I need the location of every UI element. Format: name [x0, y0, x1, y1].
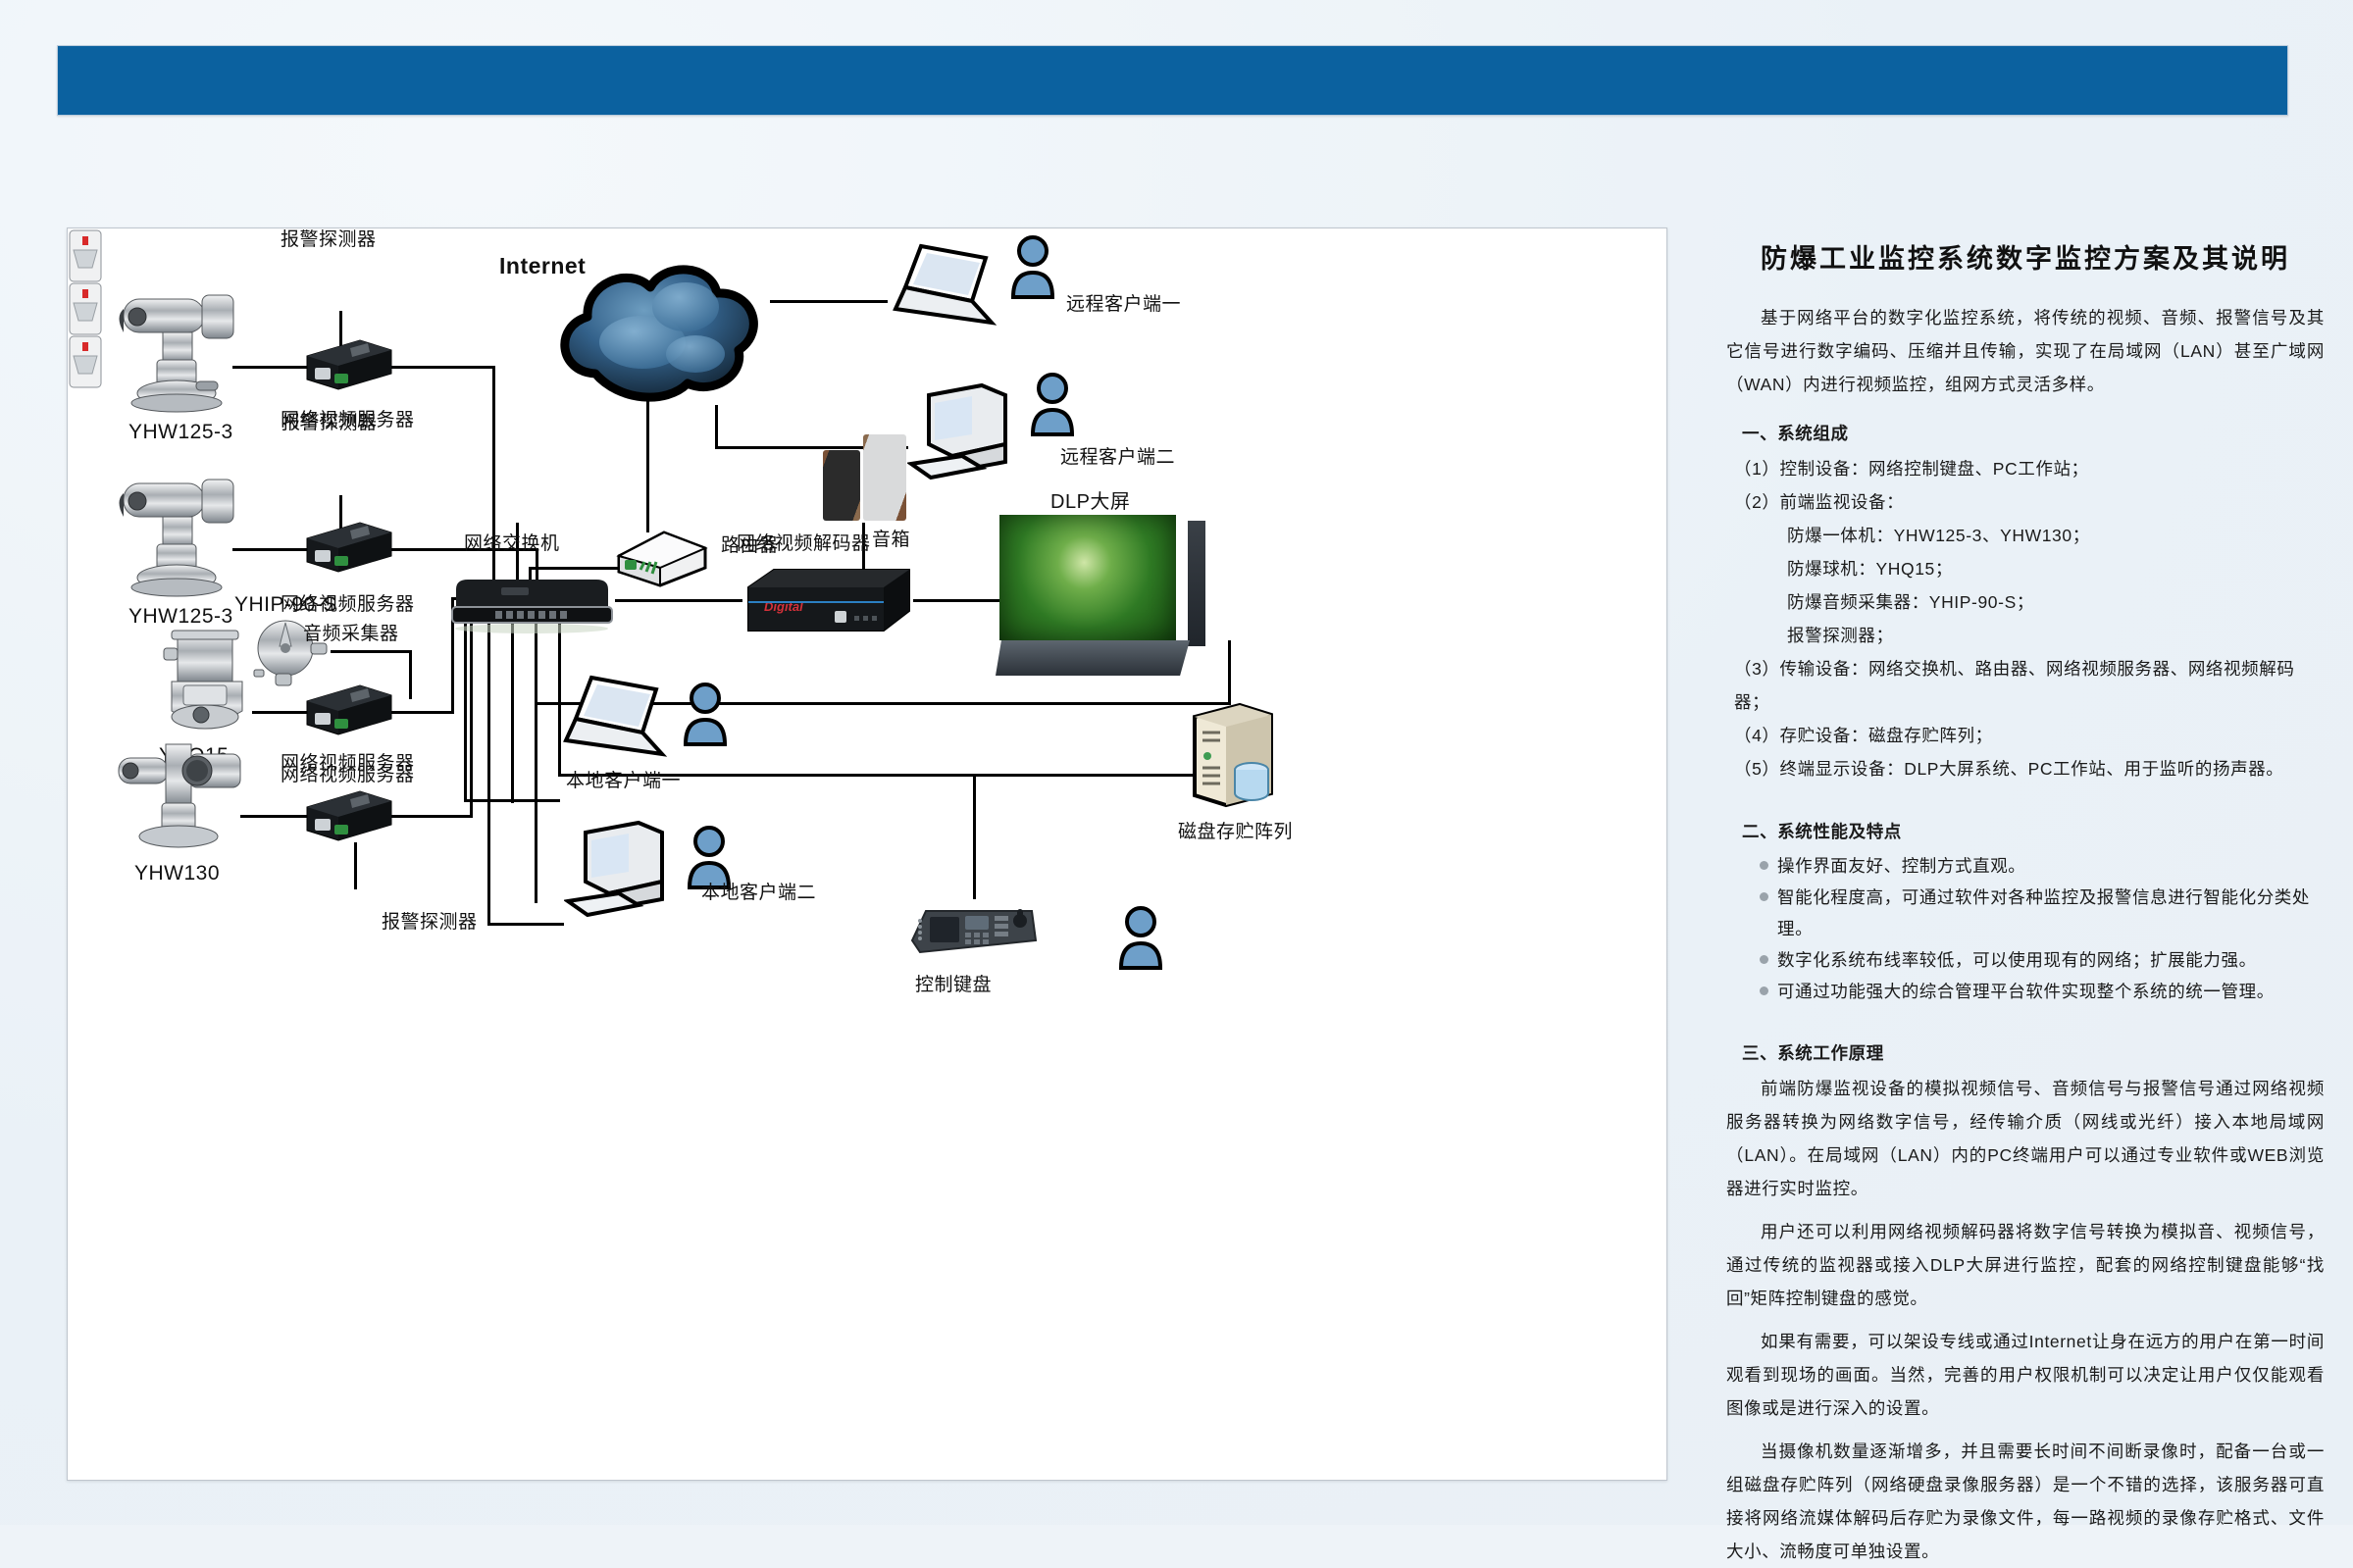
- remote-client-1-laptop-icon: [888, 240, 1001, 339]
- dlp-screen: [999, 515, 1176, 640]
- section-1-item-1: （1）控制设备：网络控制键盘、PC工作站；: [1734, 452, 2325, 485]
- router-icon: [609, 523, 713, 596]
- section-1-subitem-2: 防爆球机：YHQ15；: [1787, 552, 2325, 585]
- camera-yhw125-3-mid-icon: [112, 472, 239, 601]
- section-1-item-3: （3）传输设备：网络交换机、路由器、网络视频服务器、网络视频解码器；: [1734, 652, 2325, 719]
- alarm-detector-3-icon: [68, 334, 101, 387]
- network-video-server-2-icon: [299, 517, 397, 578]
- network-video-server-1-label: 网络视频服务器: [281, 405, 415, 431]
- local-client-1-user-avatar: [680, 682, 731, 753]
- network-video-server-2-label: 网络视频服务器: [281, 589, 415, 616]
- bus-2: [487, 619, 490, 925]
- audio-collector-label: 音频采集器: [303, 619, 399, 645]
- link-nvs1-trunk: [391, 366, 495, 369]
- section-1-subitem-3: 防爆音频采集器：YHIP-90-S；: [1787, 585, 2325, 619]
- network-video-server-1-icon: [299, 334, 397, 395]
- speakers-icon: [823, 434, 906, 521]
- remote-client-2-desktop-icon: [907, 378, 1025, 488]
- disk-storage-array-icon: [1181, 699, 1283, 816]
- section-1-item-4: （4）存贮设备：磁盘存贮阵列；: [1734, 719, 2325, 752]
- top-banner: [57, 45, 2288, 116]
- alarm-detector-2-icon: [68, 281, 101, 334]
- dlp-side-panel: [1188, 521, 1205, 646]
- disk-array-user-avatar: [1115, 905, 1166, 977]
- internet-label: Internet: [499, 253, 586, 279]
- camera-yhw130-icon: [113, 738, 246, 856]
- speaker-label: 音箱: [872, 525, 910, 551]
- network-video-server-4-label: 网络视频服务器: [281, 760, 415, 786]
- speaker-right: [863, 434, 906, 521]
- link-decoder-dlp: [913, 599, 1009, 602]
- alarm-detector-1-icon: [68, 228, 101, 281]
- section-2-bullet-3: 数字化系统布线率较低，可以使用现有的网络；扩展能力强。: [1760, 944, 2325, 976]
- section-2-bullet-1: 操作界面友好、控制方式直观。: [1760, 850, 2325, 882]
- camera-yhw125-3-top-icon: [112, 287, 239, 417]
- network-switch-label: 网络交换机: [464, 529, 560, 555]
- local-client-2-label: 本地客户端二: [701, 878, 816, 904]
- bullet-dot-icon: [1760, 986, 1768, 995]
- section-2-bullet-1-text: 操作界面友好、控制方式直观。: [1777, 850, 2325, 882]
- section-3-heading: 三、系统工作原理: [1742, 1037, 2325, 1070]
- speaker-left: [823, 450, 860, 521]
- link-audio-nvs3: [409, 652, 412, 699]
- link-switch-decoder: [615, 599, 742, 602]
- document-title: 防爆工业监控系统数字监控方案及其说明: [1726, 237, 2325, 276]
- bus-4: [535, 619, 537, 903]
- dlp-video-wall-icon: [999, 515, 1190, 676]
- internet-cloud-icon: [548, 256, 774, 423]
- bus-ckb-v: [973, 774, 976, 899]
- link-det3-nvs4: [354, 842, 357, 889]
- remote-client-2-user-avatar: [1027, 372, 1078, 443]
- link-router-switch: [529, 567, 621, 570]
- link-nvs3-trunk: [391, 711, 454, 714]
- section-2-bullet-3-text: 数字化系统布线率较低，可以使用现有的网络；扩展能力强。: [1777, 944, 2325, 976]
- bus-3: [511, 619, 514, 803]
- section-1-heading: 一、系统组成: [1742, 417, 2325, 450]
- network-switch-icon: [446, 574, 618, 639]
- dome-camera-yhq15-icon: [158, 629, 256, 749]
- camera-yhw125-3-mid-label: YHW125-3: [128, 605, 233, 629]
- bullet-dot-icon: [1760, 892, 1768, 901]
- bus-disk-v: [1228, 640, 1231, 704]
- network-video-decoder-icon: Digital: [741, 562, 915, 643]
- remote-client-1-label: 远程客户端一: [1066, 289, 1181, 316]
- section-3-paragraph-1: 前端防爆监视设备的模拟视频信号、音频信号与报警信号通过网络视频服务器转换为网络数…: [1726, 1072, 2325, 1205]
- bullet-dot-icon: [1760, 955, 1768, 964]
- link-nvs1-down: [492, 366, 495, 597]
- section-3-paragraph-2: 用户还可以利用网络视频解码器将数字信号转换为模拟音、视频信号，通过传统的监视器或…: [1726, 1215, 2325, 1315]
- camera-yhw125-3-top-label: YHW125-3: [128, 421, 233, 444]
- network-video-server-3-icon: [299, 680, 397, 740]
- network-video-server-4-icon: [299, 785, 397, 846]
- document-text-column: 防爆工业监控系统数字监控方案及其说明 基于网络平台的数字化监控系统，将传统的视频…: [1726, 228, 2325, 1492]
- alarm-detector-1-label: 报警探测器: [281, 228, 377, 251]
- remote-client-2-label: 远程客户端二: [1060, 442, 1175, 469]
- camera-yhw130-label: YHW130: [134, 862, 220, 885]
- section-2-heading: 二、系统性能及特点: [1742, 815, 2325, 848]
- dlp-base: [996, 640, 1190, 676]
- section-2-bullet-2-text: 智能化程度高，可通过软件对各种监控及报警信息进行智能化分类处理。: [1777, 882, 2325, 944]
- network-topology-diagram: Internet YHW125-3: [67, 228, 1667, 1481]
- disk-storage-array-label: 磁盘存贮阵列: [1178, 817, 1293, 843]
- control-keyboard-label: 控制键盘: [915, 970, 992, 996]
- intro-paragraph: 基于网络平台的数字化监控系统，将传统的视频、音频、报警信号及其它信号进行数字编码…: [1726, 301, 2325, 401]
- local-client-1-laptop-icon: [558, 672, 672, 771]
- section-1-subitem-1: 防爆一体机：YHW125-3、YHW130；: [1787, 519, 2325, 552]
- section-3-paragraph-4: 当摄像机数量逐渐增多，并且需要长时间不间断录像时，配备一台或一组磁盘存贮阵列（网…: [1726, 1435, 2325, 1568]
- section-3-paragraph-3: 如果有需要，可以架设专线或通过Internet让身在远方的用户在第一时间观看到现…: [1726, 1325, 2325, 1425]
- section-1-subitem-4: 报警探测器；: [1787, 619, 2325, 652]
- link-cloud-remote1: [770, 300, 888, 303]
- network-video-decoder-label: 网络视频解码器: [737, 529, 871, 555]
- section-1-item-2: （2）前端监视设备：: [1734, 485, 2325, 519]
- local-client-2-desktop-icon: [564, 815, 682, 926]
- local-client-1-label: 本地客户端一: [566, 766, 681, 792]
- section-2-bullet-4: 可通过功能强大的综合管理平台软件实现整个系统的统一管理。: [1760, 976, 2325, 1007]
- control-keyboard-icon: [906, 899, 1040, 969]
- link-nvs4-trunk: [391, 815, 473, 818]
- section-2-bullet-2: 智能化程度高，可通过软件对各种监控及报警信息进行智能化分类处理。: [1760, 882, 2325, 944]
- alarm-detector-3-label: 报警探测器: [382, 907, 478, 934]
- dlp-label: DLP大屏: [1050, 485, 1130, 514]
- section-2-bullet-4-text: 可通过功能强大的综合管理平台软件实现整个系统的统一管理。: [1777, 976, 2325, 1007]
- bus-2h: [487, 923, 564, 926]
- bullet-dot-icon: [1760, 861, 1768, 870]
- link-audio-h: [331, 650, 412, 653]
- remote-client-1-user-avatar: [1007, 234, 1058, 306]
- section-1-item-5: （5）终端显示设备：DLP大屏系统、PC工作站、用于监听的扬声器。: [1734, 752, 2325, 785]
- bus-1: [464, 619, 467, 801]
